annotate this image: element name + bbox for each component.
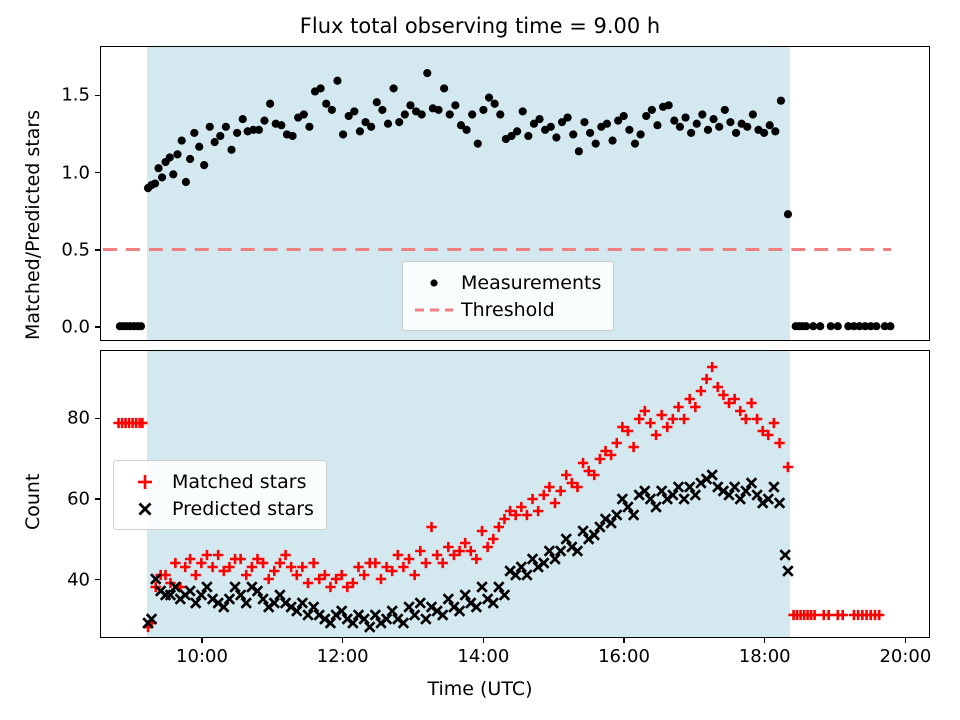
- y-tick-mark: [95, 418, 100, 420]
- x-tick-label: 18:00: [739, 646, 791, 667]
- y-tick-mark: [95, 579, 100, 581]
- legend-item-measurements: Measurements: [411, 269, 601, 296]
- y-tick-mark: [95, 326, 100, 328]
- legend-item-predicted-stars: Predicted stars: [122, 495, 314, 522]
- figure-container: Flux total observing time = 9.00 h Match…: [0, 0, 960, 720]
- x-tick-label: 10:00: [176, 646, 228, 667]
- x-tick-mark: [764, 638, 766, 643]
- legend-item-matched-stars: Matched stars: [122, 468, 314, 495]
- y-tick-label: 80: [34, 408, 90, 429]
- x-tick-mark: [342, 638, 344, 643]
- x-tick-label: 20:00: [879, 646, 931, 667]
- chart-title: Flux total observing time = 9.00 h: [0, 14, 960, 38]
- cross-marker-icon: [122, 500, 168, 518]
- x-axis-label: Time (UTC): [0, 678, 960, 700]
- y-tick-label: 0.0: [34, 317, 90, 338]
- legend-ratio: Measurements Threshold: [402, 261, 614, 331]
- x-tick-label: 14:00: [457, 646, 509, 667]
- legend-count: Matched stars Predicted stars: [113, 460, 327, 530]
- x-tick-label: 12:00: [317, 646, 369, 667]
- legend-label-predicted-stars: Predicted stars: [168, 498, 314, 520]
- y-tick-mark: [95, 498, 100, 500]
- x-tick-mark: [483, 638, 485, 643]
- y-tick-label: 1.0: [34, 162, 90, 183]
- x-tick-mark: [905, 638, 907, 643]
- legend-label-measurements: Measurements: [457, 272, 601, 294]
- y-tick-label: 40: [34, 569, 90, 590]
- dot-icon: [411, 276, 457, 290]
- dashed-line-icon: [411, 304, 457, 316]
- legend-label-matched-stars: Matched stars: [168, 471, 306, 493]
- y-tick-label: 1.5: [34, 85, 90, 106]
- x-tick-mark: [623, 638, 625, 643]
- y-tick-mark: [95, 172, 100, 174]
- y-tick-label: 0.5: [34, 239, 90, 260]
- y-tick-label: 60: [34, 489, 90, 510]
- y-tick-mark: [95, 249, 100, 251]
- y-tick-mark: [95, 95, 100, 97]
- legend-label-threshold: Threshold: [457, 299, 555, 321]
- plus-marker-icon: [122, 473, 168, 491]
- x-tick-mark: [201, 638, 203, 643]
- x-tick-label: 16:00: [598, 646, 650, 667]
- legend-item-threshold: Threshold: [411, 296, 601, 323]
- y-axis-label-top: Matched/Predicted stars: [22, 110, 44, 340]
